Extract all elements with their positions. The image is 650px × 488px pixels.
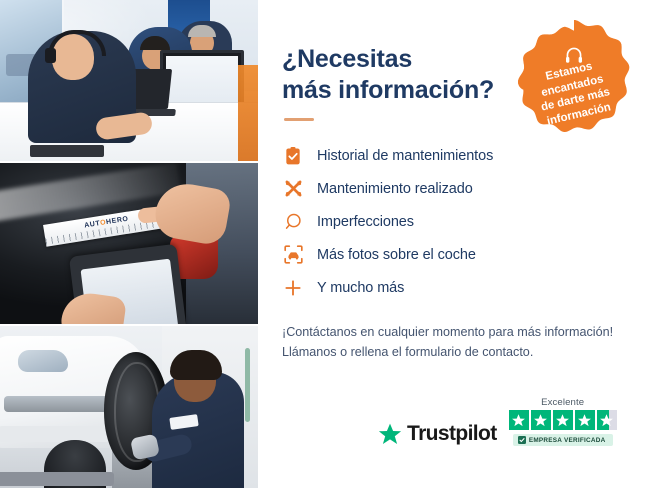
feature-label: Mantenimiento realizado: [317, 181, 473, 197]
keyboard: [30, 145, 104, 157]
feature-label: Más fotos sobre el coche: [317, 247, 476, 263]
trustpilot-rating-block: Excelente: [509, 397, 617, 446]
car-lift: [0, 472, 114, 486]
support-badge: Estamos encantados de darte más informac…: [510, 18, 638, 146]
headlight: [18, 350, 68, 372]
plus-icon: [282, 277, 304, 299]
information-banner: AUTOHERO: [0, 0, 650, 488]
photo-inspection: AUTOHERO: [0, 163, 258, 324]
photo-column: AUTOHERO: [0, 0, 258, 488]
star-rating: [509, 410, 617, 430]
title-divider: [284, 118, 314, 121]
magnifier-icon: [282, 211, 304, 233]
contact-line-1: ¡Contáctanos en cualquier momento para m…: [282, 322, 624, 342]
trustpilot-wordmark: Trustpilot: [407, 422, 497, 446]
feature-list: Historial de mantenimientos M: [282, 139, 624, 304]
list-item: Más fotos sobre el coche: [282, 238, 624, 271]
trustpilot-widget[interactable]: Trustpilot Excelente: [378, 397, 617, 446]
car-photo-frame-icon: [282, 244, 304, 266]
list-item: Mantenimiento realizado: [282, 172, 624, 205]
orange-accent-wall: [238, 65, 258, 161]
grille: [4, 396, 112, 412]
uniform-logo: [169, 414, 198, 430]
list-item: Imperfecciones: [282, 205, 624, 238]
verified-company-badge: EMPRESA VERIFICADA: [513, 434, 613, 446]
agent-front-headset: [52, 34, 94, 80]
tools-cross-icon: [282, 178, 304, 200]
star-filled: [531, 410, 551, 430]
star-filled: [509, 410, 529, 430]
contact-text: ¡Contáctanos en cualquier momento para m…: [282, 322, 624, 363]
contact-line-2: Llámanos o rellena el formulario de cont…: [282, 342, 624, 362]
title-line-2: más información?: [282, 75, 512, 106]
check-square-icon: [518, 436, 526, 444]
content-panel: ¿Necesitas más información? Historial de…: [258, 0, 650, 488]
trustpilot-logo[interactable]: Trustpilot: [378, 422, 497, 446]
photo-mechanic-tyre: [0, 326, 258, 488]
bumper: [0, 426, 118, 442]
mechanic-hair: [170, 350, 222, 380]
rating-label: Excelente: [541, 397, 584, 408]
trustpilot-star-icon: [378, 422, 402, 446]
star-filled: [553, 410, 573, 430]
feature-label: Y mucho más: [317, 280, 404, 296]
feature-label: Historial de mantenimientos: [317, 148, 493, 164]
ruler-brand-part-1: AUT: [84, 220, 101, 229]
star-filled: [575, 410, 595, 430]
star-partial: [597, 410, 617, 430]
clipboard-check-icon: [282, 145, 304, 167]
list-item: Y mucho más: [282, 271, 624, 304]
photo-call-center: [0, 0, 258, 161]
verified-label: EMPRESA VERIFICADA: [529, 437, 606, 444]
feature-label: Imperfecciones: [317, 214, 414, 230]
title-line-1: ¿Necesitas: [282, 44, 512, 75]
page-title: ¿Necesitas más información?: [282, 44, 512, 105]
